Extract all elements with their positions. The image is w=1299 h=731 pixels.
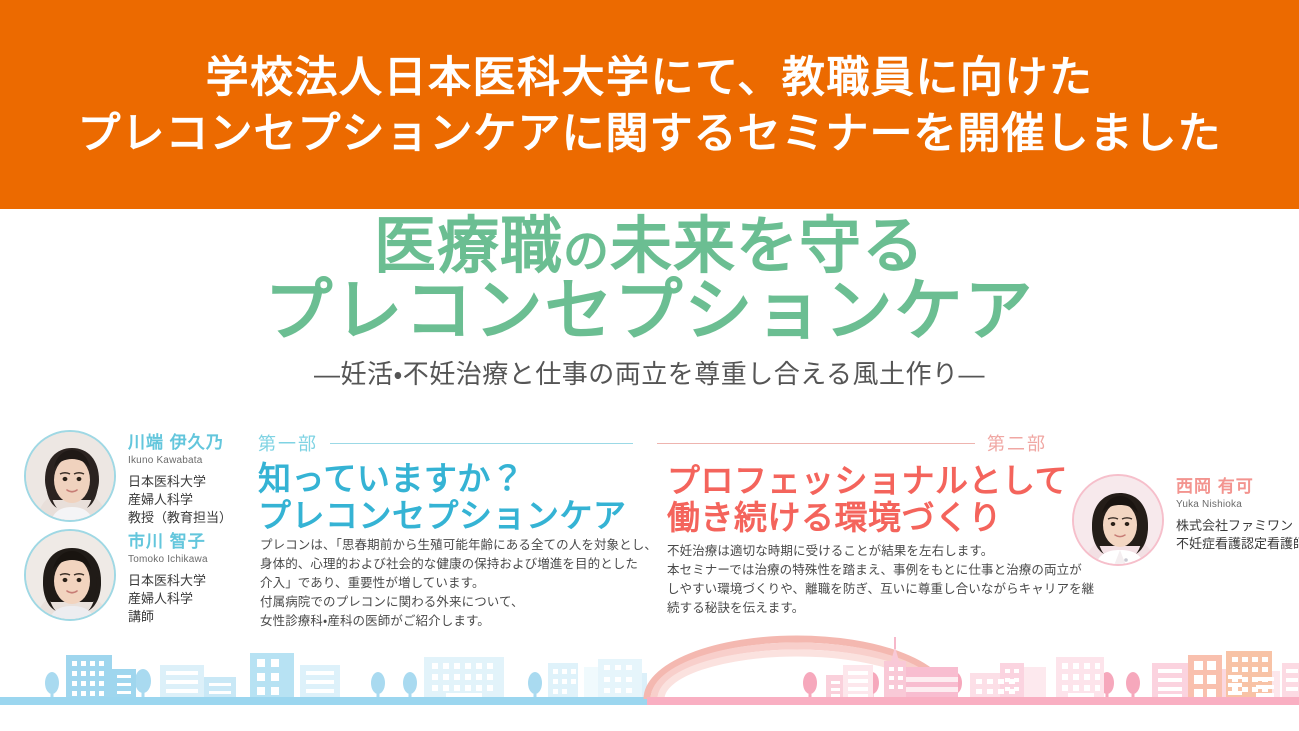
speaker-romaji: Ikuno Kawabata [128, 455, 232, 466]
banner-headline-line1: 学校法人日本医科大学にて、教職員に向けた [206, 51, 1094, 106]
section-two-body-line: 続する秘訣を伝えます。 [667, 599, 1094, 618]
section-two-title: プロフェッショナルとして 働き続ける環境づくり [667, 462, 1068, 537]
speaker-affiliation-line: 株式会社ファミワン [1176, 517, 1299, 535]
speaker-romaji: Yuka Nishioka [1176, 499, 1299, 510]
avatar [1072, 474, 1164, 566]
speaker-affiliation-line: 教授（教育担当） [128, 509, 232, 527]
section-two-header: 第二部 [657, 430, 1047, 456]
poster-columns: 川端 伊久乃 Ikuno Kawabata 日本医科大学 産婦人科学 教授（教育… [0, 424, 1299, 705]
speaker-affiliation-line: 日本医科大学 [128, 572, 208, 590]
section-one-title-line1: 知っていますか？ [258, 460, 627, 497]
speaker-affiliation-line: 不妊症看護認定看護師 [1176, 535, 1299, 553]
section-two-label: 第二部 [987, 430, 1047, 456]
section-one-title: 知っていますか？ プレコンセプションケア [258, 460, 627, 535]
section-one-body-line: 身体的、心理的および社会的な健康の保持および増進を目的とした [260, 555, 657, 574]
banner-headline-line2: プレコンセプションケアに関するセミナーを開催しました [78, 107, 1222, 162]
speaker-meta: 西岡 有可 Yuka Nishioka 株式会社ファミワン 不妊症看護認定看護師 [1176, 474, 1299, 553]
seminar-poster: 医療職の未来を守る プレコンセプションケア ―妊活・不妊治療と仕事の両立を尊重し… [0, 209, 1299, 705]
section-one-body: プレコンは、「思春期前から生殖可能年齢にある全ての人を対象とし、 身体的、心理的… [260, 536, 657, 631]
speaker-card-nishioka: 西岡 有可 Yuka Nishioka 株式会社ファミワン 不妊症看護認定看護師 [1072, 474, 1299, 566]
poster-page: 学校法人日本医科大学にて、教職員に向けた プレコンセプションケアに関するセミナー… [0, 0, 1299, 731]
speaker-affiliation: 日本医科大学 産婦人科学 講師 [128, 572, 208, 626]
section-one-divider [330, 443, 633, 444]
section-one-label: 第一部 [258, 430, 318, 456]
speaker-affiliation: 株式会社ファミワン 不妊症看護認定看護師 [1176, 517, 1299, 553]
poster-title-part-a: 医療職 [374, 212, 563, 281]
section-two-body-line: 本セミナーでは治療の特殊性を踏まえ、事例をもとに仕事と治療の両立が [667, 561, 1094, 580]
section-two-body-line: 不妊治療は適切な時期に受けることが結果を左右します。 [667, 542, 1094, 561]
section-one-body-line: 女性診療科・産科の医師がご紹介します。 [260, 612, 657, 631]
section-two-title-line1: プロフェッショナルとして [667, 462, 1068, 499]
avatar [24, 529, 116, 621]
poster-subtitle: ―妊活・不妊治療と仕事の両立を尊重し合える風土作り― [0, 354, 1299, 391]
speaker-name: 市川 智子 [128, 533, 208, 552]
poster-title-part-b: の [563, 225, 610, 277]
page-banner: 学校法人日本医科大学にて、教職員に向けた プレコンセプションケアに関するセミナー… [0, 0, 1299, 209]
section-one-title-line2: プレコンセプションケア [258, 497, 627, 534]
speaker-affiliation-line: 産婦人科学 [128, 590, 208, 608]
portrait-illustration [1074, 476, 1164, 566]
section-two-title-line2: 働き続ける環境づくり [667, 499, 1068, 536]
footer-white-strip [0, 705, 1299, 731]
speaker-affiliation-line: 日本医科大学 [128, 473, 232, 491]
poster-title-line2: プレコンセプションケア [0, 276, 1299, 347]
speaker-affiliation-line: 産婦人科学 [128, 491, 232, 509]
poster-title-part-c: 未来を守る [610, 212, 925, 281]
section-one-body-line: プレコンは、「思春期前から生殖可能年齢にある全ての人を対象とし、 [260, 536, 657, 555]
portrait-illustration [26, 432, 116, 522]
section-two-body: 不妊治療は適切な時期に受けることが結果を左右します。 本セミナーでは治療の特殊性… [667, 542, 1094, 618]
poster-title-line1: 医療職の未来を守る [0, 215, 1299, 278]
avatar [24, 430, 116, 522]
section-two-body-line: しやすい環境づくりや、離職を防ぎ、互いに尊重し合いながらキャリアを継 [667, 580, 1094, 599]
speaker-card-kawabata: 川端 伊久乃 Ikuno Kawabata 日本医科大学 産婦人科学 教授（教育… [24, 430, 232, 527]
section-one-body-line: 付属病院でのプレコンに関わる外来について、 [260, 593, 657, 612]
speaker-meta: 川端 伊久乃 Ikuno Kawabata 日本医科大学 産婦人科学 教授（教育… [128, 430, 232, 527]
poster-title-block: 医療職の未来を守る プレコンセプションケア ―妊活・不妊治療と仕事の両立を尊重し… [0, 215, 1299, 391]
section-two-divider [657, 443, 975, 444]
portrait-illustration [26, 531, 116, 621]
speaker-card-ichikawa: 市川 智子 Tomoko Ichikawa 日本医科大学 産婦人科学 講師 [24, 529, 208, 626]
column-section-two: 第二部 プロフェッショナルとして 働き続ける環境づくり 不妊治療は適切な時期に受… [647, 424, 1299, 705]
speaker-romaji: Tomoko Ichikawa [128, 554, 208, 565]
speaker-affiliation: 日本医科大学 産婦人科学 教授（教育担当） [128, 473, 232, 527]
section-one-header: 第一部 [258, 430, 633, 456]
speaker-meta: 市川 智子 Tomoko Ichikawa 日本医科大学 産婦人科学 講師 [128, 529, 208, 626]
section-one-body-line: 介入」であり、重要性が増しています。 [260, 574, 657, 593]
column-section-one: 川端 伊久乃 Ikuno Kawabata 日本医科大学 産婦人科学 教授（教育… [0, 424, 647, 705]
speaker-name: 川端 伊久乃 [128, 434, 232, 453]
speaker-affiliation-line: 講師 [128, 608, 208, 626]
speaker-name: 西岡 有可 [1176, 478, 1299, 497]
